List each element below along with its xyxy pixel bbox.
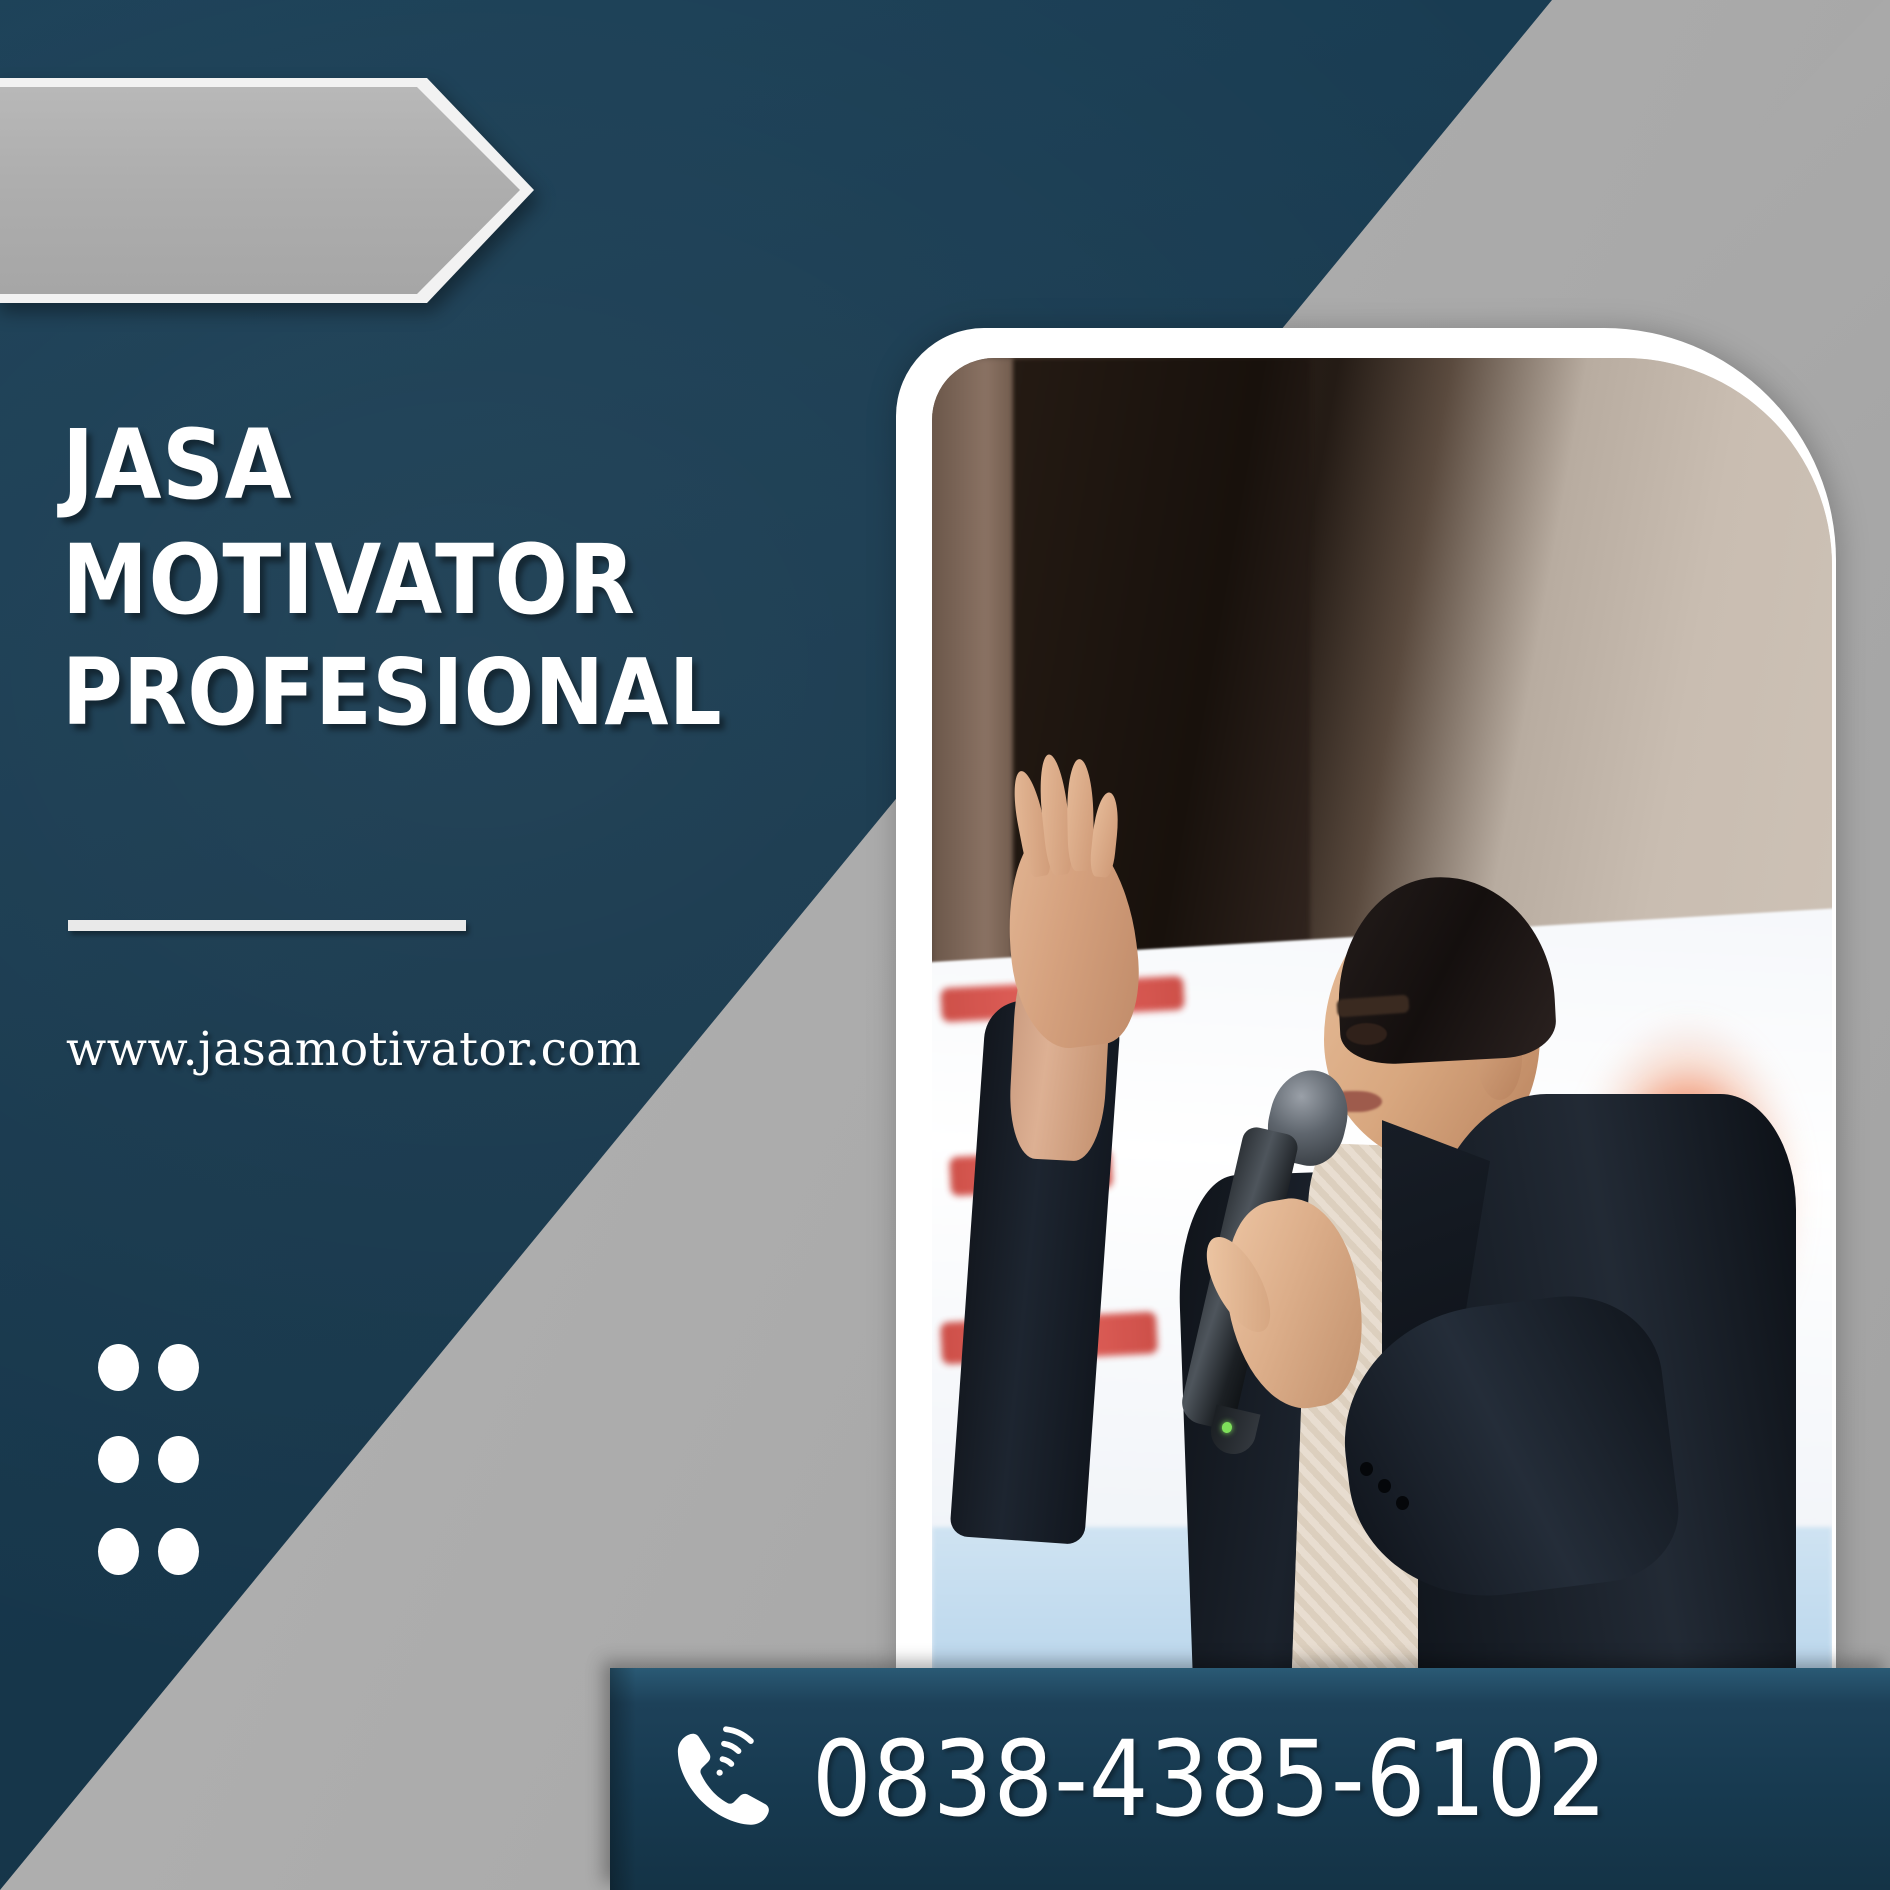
headline-line-1: JASA: [62, 408, 802, 523]
six-dot-grid: [98, 1344, 218, 1620]
dot: [158, 1436, 199, 1483]
headline-line-3: PROFESIONAL: [62, 638, 802, 748]
speaker-photo: [932, 358, 1832, 1672]
dot: [158, 1344, 199, 1391]
dot: [98, 1528, 139, 1575]
chevron-banner: [0, 78, 534, 303]
dot: [98, 1436, 139, 1483]
dot: [98, 1344, 139, 1391]
poster-canvas: JASA MOTIVATOR PROFESIONAL www.jasamotiv…: [0, 0, 1890, 1890]
photo-card: [896, 328, 1836, 1672]
contact-bar[interactable]: 0838-4385-6102: [610, 1668, 1890, 1890]
dot: [158, 1528, 199, 1575]
photo-cuff-button: [1360, 1462, 1374, 1476]
page-title: JASA MOTIVATOR PROFESIONAL: [62, 408, 802, 749]
chevron-inner-shape: [0, 87, 520, 294]
phone-ringing-icon: [666, 1721, 782, 1837]
website-url[interactable]: www.jasamotivator.com: [66, 1022, 641, 1077]
divider: [68, 920, 466, 931]
phone-number: 0838-4385-6102: [812, 1718, 1608, 1840]
headline-line-2: MOTIVATOR: [62, 523, 802, 638]
